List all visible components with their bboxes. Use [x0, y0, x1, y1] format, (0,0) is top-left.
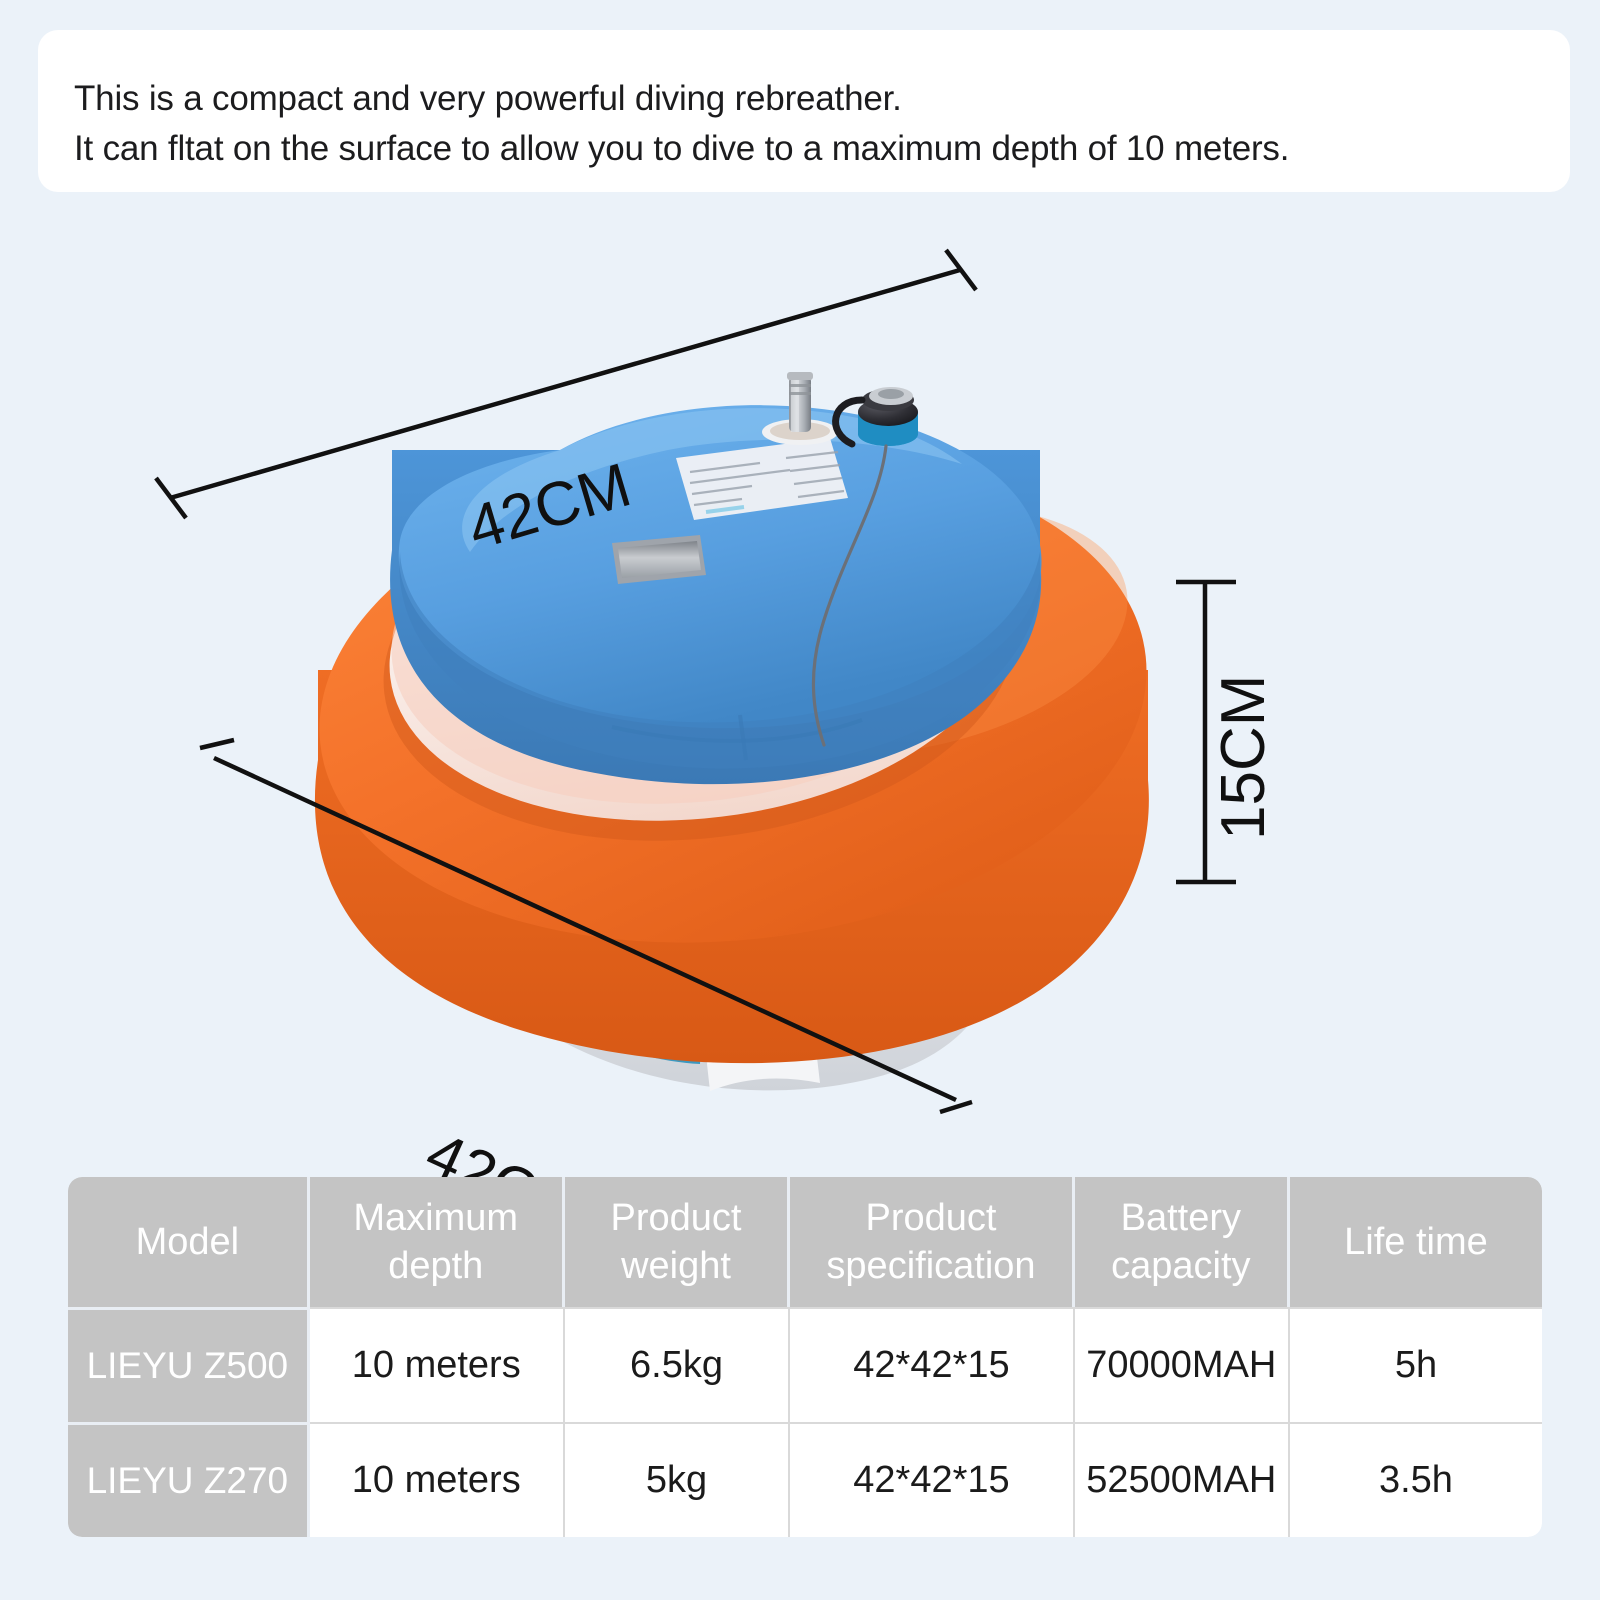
cell-battery: 52500MAH: [1075, 1422, 1290, 1537]
column-header-battery-capacity-line-1: Battery: [1121, 1197, 1241, 1239]
column-header-product-specification-line-1: Product: [866, 1197, 997, 1239]
column-header-battery-capacity: Battery capacity: [1075, 1177, 1290, 1307]
table-header: Model Maximum depth Product weight Produ…: [68, 1177, 1542, 1307]
table-row: LIEYU Z500 10 meters 6.5kg 42*42*15 7000…: [68, 1307, 1542, 1422]
column-header-battery-capacity-line-2: capacity: [1111, 1245, 1250, 1287]
column-header-maximum-depth-line-2: depth: [388, 1245, 483, 1287]
cell-life-time: 5h: [1290, 1307, 1542, 1422]
product-illustration: 42CM 42CM 15CM: [0, 200, 1600, 1160]
column-header-product-weight-line-2: weight: [621, 1245, 731, 1287]
cell-weight: 5kg: [565, 1422, 791, 1537]
table-row: LIEYU Z270 10 meters 5kg 42*42*15 52500M…: [68, 1422, 1542, 1537]
table-header-row: Model Maximum depth Product weight Produ…: [68, 1177, 1542, 1307]
cell-weight: 6.5kg: [565, 1307, 791, 1422]
column-header-product-specification: Product specification: [790, 1177, 1074, 1307]
column-header-maximum-depth-line-1: Maximum: [353, 1197, 518, 1239]
column-header-product-weight: Product weight: [565, 1177, 791, 1307]
column-header-model-line-1: Model: [136, 1221, 240, 1263]
cell-life-time: 3.5h: [1290, 1422, 1542, 1537]
cell-model: LIEYU Z500: [68, 1307, 310, 1422]
column-header-life-time: Life time: [1290, 1177, 1542, 1307]
cell-specification: 42*42*15: [790, 1422, 1074, 1537]
column-header-model: Model: [68, 1177, 310, 1307]
specification-table-wrapper: Model Maximum depth Product weight Produ…: [68, 1177, 1542, 1537]
table-body: LIEYU Z500 10 meters 6.5kg 42*42*15 7000…: [68, 1307, 1542, 1537]
dimension-label-height-right: 15CM: [1208, 675, 1279, 840]
column-header-product-weight-line-1: Product: [611, 1197, 742, 1239]
cell-specification: 42*42*15: [790, 1307, 1074, 1422]
description-card: This is a compact and very powerful divi…: [38, 30, 1570, 192]
cell-battery: 70000MAH: [1075, 1307, 1290, 1422]
cell-max-depth: 10 meters: [310, 1422, 565, 1537]
description-line-2: It can fltat on the surface to allow you…: [74, 124, 1570, 174]
product-figure: [0, 200, 1600, 1160]
description-line-1: This is a compact and very powerful divi…: [74, 74, 1570, 124]
cell-max-depth: 10 meters: [310, 1307, 565, 1422]
cell-model: LIEYU Z270: [68, 1422, 310, 1537]
column-header-product-specification-line-2: specification: [826, 1245, 1035, 1287]
specification-table: Model Maximum depth Product weight Produ…: [68, 1177, 1542, 1537]
column-header-life-time-line-1: Life time: [1344, 1221, 1488, 1263]
column-header-maximum-depth: Maximum depth: [310, 1177, 565, 1307]
